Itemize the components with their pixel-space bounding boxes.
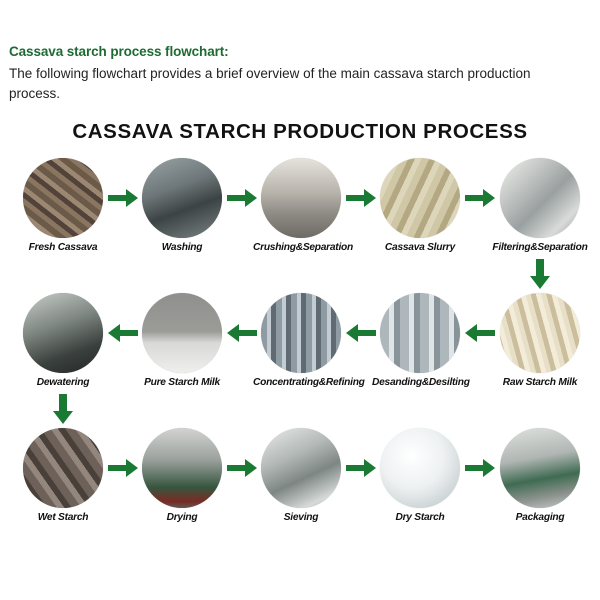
step-photo-packaging bbox=[500, 428, 580, 508]
flow-arrow-left-icon bbox=[346, 324, 376, 342]
step-image bbox=[380, 293, 460, 373]
step-label: Fresh Cassava bbox=[15, 242, 111, 253]
step-label: Dry Starch bbox=[372, 512, 468, 523]
step-label: Cassava Slurry bbox=[372, 242, 468, 253]
step-label: Crushing&Separation bbox=[253, 242, 349, 253]
step-label: Pure Starch Milk bbox=[134, 377, 230, 388]
intro-paragraph: The following flowchart provides a brief… bbox=[9, 64, 554, 104]
flow-step-drying: Drying bbox=[134, 428, 230, 523]
flow-arrow-left-icon bbox=[227, 324, 257, 342]
step-photo-puremilk bbox=[142, 293, 222, 373]
step-image bbox=[261, 158, 341, 238]
flow-step-packaging: Packaging bbox=[492, 428, 588, 523]
step-label: Concentrating&Refining bbox=[253, 377, 349, 388]
flow-arrow-right-icon bbox=[465, 459, 495, 477]
step-label: Wet Starch bbox=[15, 512, 111, 523]
step-photo-sieving bbox=[261, 428, 341, 508]
step-photo-cassava bbox=[23, 158, 103, 238]
flow-step-wet-starch: Wet Starch bbox=[15, 428, 111, 523]
step-image bbox=[380, 428, 460, 508]
step-image bbox=[500, 293, 580, 373]
step-image bbox=[142, 158, 222, 238]
flow-arrow-left-icon bbox=[108, 324, 138, 342]
flow-arrow-right-icon bbox=[227, 189, 257, 207]
step-photo-dewater bbox=[23, 293, 103, 373]
flow-step-raw-starch-milk: Raw Starch Milk bbox=[492, 293, 588, 388]
flow-step-sieving: Sieving bbox=[253, 428, 349, 523]
step-image bbox=[261, 428, 341, 508]
step-image bbox=[261, 293, 341, 373]
flow-step-dewatering: Dewatering bbox=[15, 293, 111, 388]
step-photo-drystarch bbox=[380, 428, 460, 508]
step-image bbox=[23, 293, 103, 373]
step-label: Filtering&Separation bbox=[492, 242, 588, 253]
step-photo-rawmilk bbox=[500, 293, 580, 373]
flowchart-title: CASSAVA STARCH PRODUCTION PROCESS bbox=[0, 118, 600, 144]
step-photo-drying bbox=[142, 428, 222, 508]
step-image bbox=[142, 428, 222, 508]
flow-step-fresh-cassava: Fresh Cassava bbox=[15, 158, 111, 253]
flow-step-dry-starch: Dry Starch bbox=[372, 428, 468, 523]
row1-to-row2-connector-icon bbox=[530, 259, 550, 289]
step-image bbox=[500, 158, 580, 238]
step-photo-concentrate bbox=[261, 293, 341, 373]
flow-arrow-right-icon bbox=[227, 459, 257, 477]
step-image bbox=[23, 158, 103, 238]
step-image bbox=[380, 158, 460, 238]
intro-heading: Cassava starch process flowchart: bbox=[9, 44, 591, 59]
flow-arrow-right-icon bbox=[346, 459, 376, 477]
step-photo-washing bbox=[142, 158, 222, 238]
flow-arrow-right-icon bbox=[108, 189, 138, 207]
flow-arrow-right-icon bbox=[346, 189, 376, 207]
step-label: Dewatering bbox=[15, 377, 111, 388]
flow-step-concentrating-refining: Concentrating&Refining bbox=[253, 293, 349, 388]
flow-step-pure-starch-milk: Pure Starch Milk bbox=[134, 293, 230, 388]
row2-to-row3-connector-icon bbox=[53, 394, 73, 424]
step-label: Raw Starch Milk bbox=[492, 377, 588, 388]
step-label: Desanding&Desilting bbox=[372, 377, 468, 388]
flow-arrow-right-icon bbox=[465, 189, 495, 207]
step-photo-desand bbox=[380, 293, 460, 373]
step-label: Washing bbox=[134, 242, 230, 253]
step-photo-slurry bbox=[380, 158, 460, 238]
flow-row-2: DewateringPure Starch MilkConcentrating&… bbox=[0, 293, 600, 403]
step-label: Packaging bbox=[492, 512, 588, 523]
step-label: Sieving bbox=[253, 512, 349, 523]
flow-step-crushing-separation: Crushing&Separation bbox=[253, 158, 349, 253]
step-photo-filter bbox=[500, 158, 580, 238]
flow-step-washing: Washing bbox=[134, 158, 230, 253]
step-photo-wetstarch bbox=[23, 428, 103, 508]
step-photo-crush bbox=[261, 158, 341, 238]
flow-arrow-right-icon bbox=[108, 459, 138, 477]
step-image bbox=[23, 428, 103, 508]
flow-step-filtering-separation: Filtering&Separation bbox=[492, 158, 588, 253]
flow-row-3: Wet StarchDryingSievingDry StarchPackagi… bbox=[0, 428, 600, 538]
step-image bbox=[142, 293, 222, 373]
flow-step-desanding-desilting: Desanding&Desilting bbox=[372, 293, 468, 388]
flow-step-cassava-slurry: Cassava Slurry bbox=[372, 158, 468, 253]
flowchart-figure: CASSAVA STARCH PRODUCTION PROCESS Fresh … bbox=[0, 118, 600, 548]
flow-row-1: Fresh CassavaWashingCrushing&SeparationC… bbox=[0, 158, 600, 268]
flow-arrow-left-icon bbox=[465, 324, 495, 342]
step-image bbox=[500, 428, 580, 508]
intro-block: Cassava starch process flowchart: The fo… bbox=[9, 44, 591, 104]
step-label: Drying bbox=[134, 512, 230, 523]
